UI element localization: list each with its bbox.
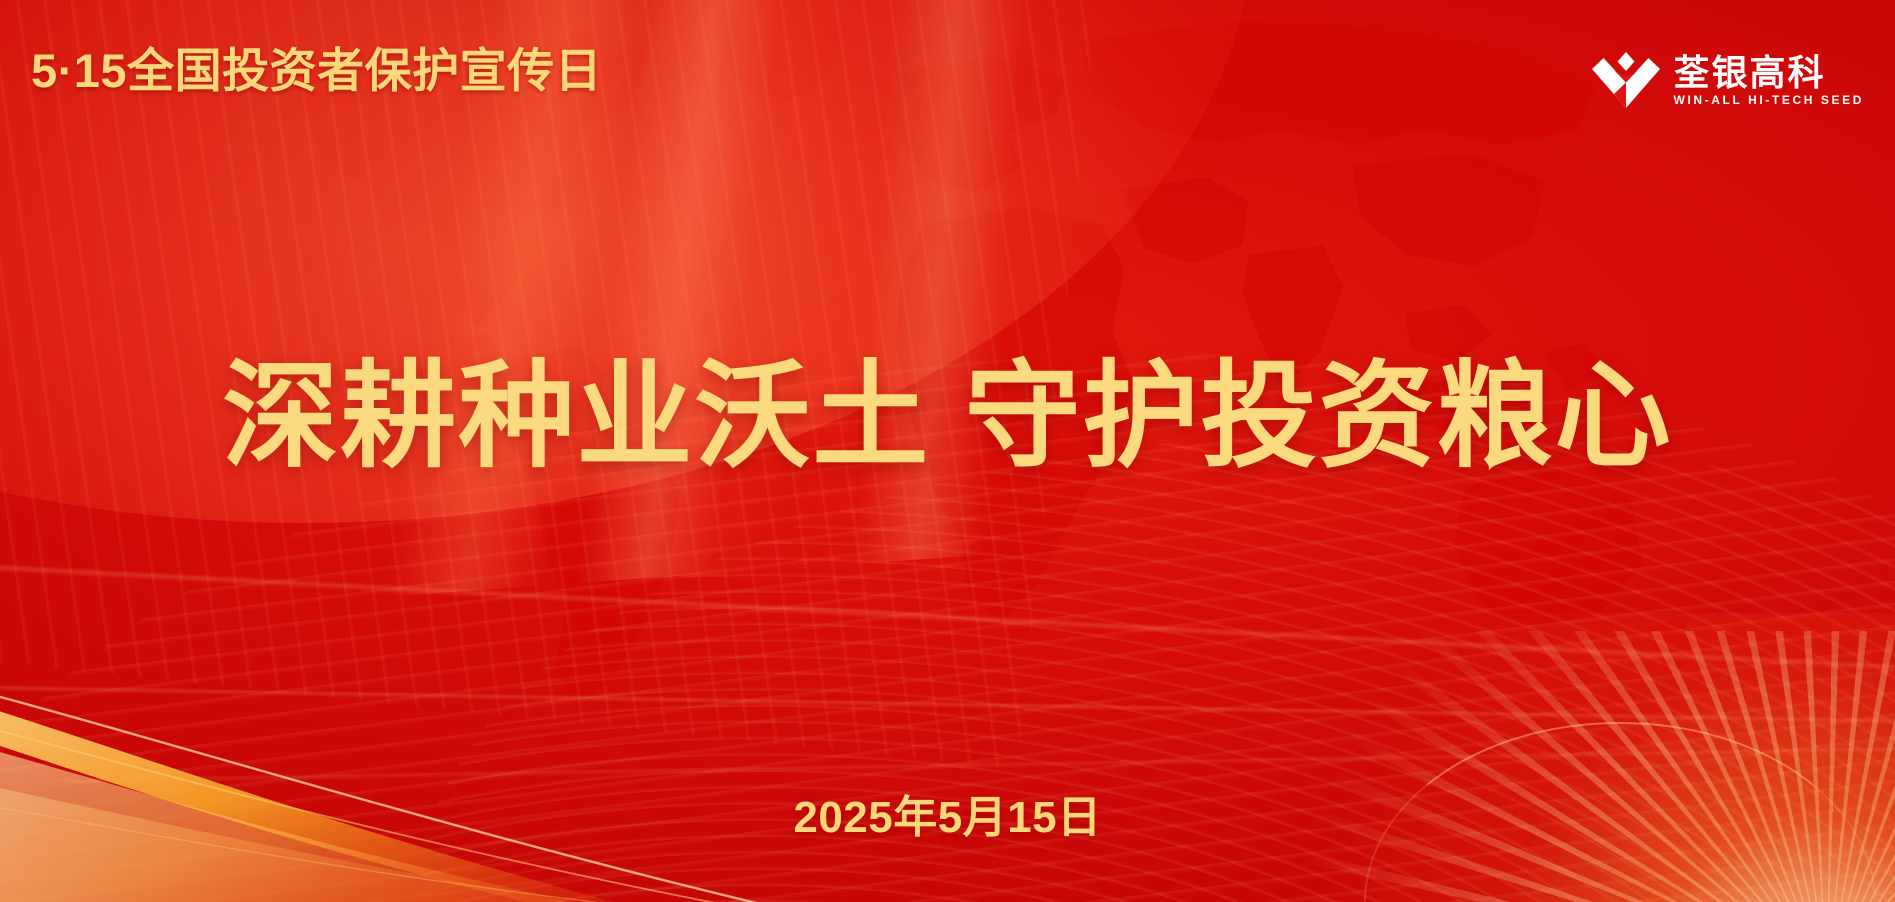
campaign-kicker: 5·15全国投资者保护宣传日 (31, 47, 602, 94)
investor-protection-banner: 5·15全国投资者保护宣传日 荃银高科 WIN-ALL HI-TECH SEED… (0, 0, 1895, 902)
winall-chevron-logo-icon (1592, 52, 1660, 108)
company-name-block: 荃银高科 WIN-ALL HI-TECH SEED (1674, 55, 1864, 106)
company-name-cn: 荃银高科 (1674, 55, 1864, 91)
event-date: 2025年5月15日 (0, 796, 1895, 840)
banner-header: 5·15全国投资者保护宣传日 荃银高科 WIN-ALL HI-TECH SEED (31, 47, 1864, 108)
main-headline: 深耕种业沃土 守护投资粮心 (0, 352, 1895, 482)
company-name-en: WIN-ALL HI-TECH SEED (1674, 94, 1864, 106)
golden-ribbon-decor (0, 667, 1099, 902)
company-logo: 荃银高科 WIN-ALL HI-TECH SEED (1592, 52, 1864, 108)
